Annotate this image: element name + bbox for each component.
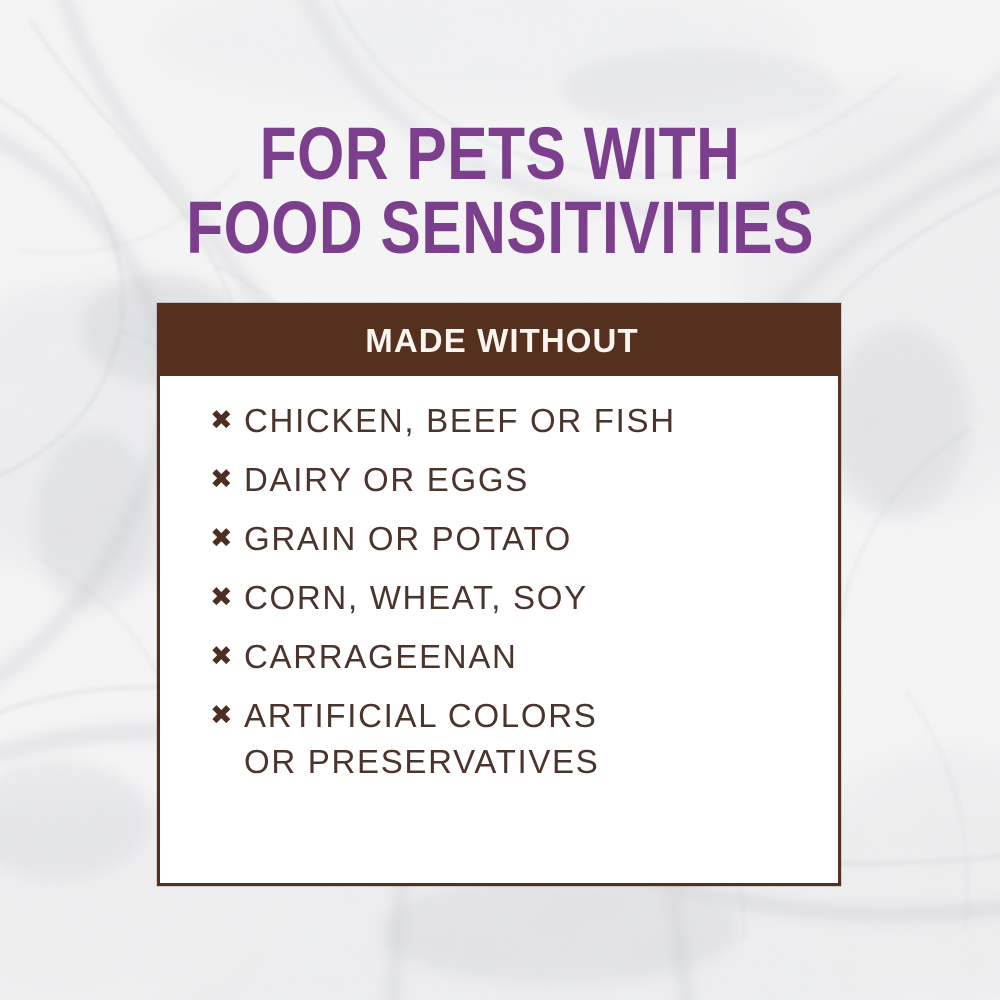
- page-title-line-2: FOOD SENSITIVITIES: [90, 192, 910, 264]
- list-item-label: GRAIN OR POTATO: [244, 516, 572, 562]
- x-mark-icon: ✖: [210, 693, 244, 739]
- list-item-label: DAIRY OR EGGS: [244, 457, 529, 503]
- x-mark-icon: ✖: [210, 457, 244, 503]
- page-title: FOR PETS WITH FOOD SENSITIVITIES: [0, 118, 1000, 264]
- made-without-card: MADE WITHOUT ✖ CHICKEN, BEEF OR FISH ✖ D…: [157, 303, 841, 886]
- list-item: ✖ CORN, WHEAT, SOY: [160, 575, 838, 621]
- page-title-line-1: FOR PETS WITH: [90, 118, 910, 190]
- list-item: ✖ GRAIN OR POTATO: [160, 516, 838, 562]
- list-item: ✖ CARRAGEENAN: [160, 634, 838, 680]
- list-item: ✖ DAIRY OR EGGS: [160, 457, 838, 503]
- made-without-list: ✖ CHICKEN, BEEF OR FISH ✖ DAIRY OR EGGS …: [160, 376, 838, 785]
- list-item-label: ARTIFICIAL COLORS OR PRESERVATIVES: [244, 693, 599, 785]
- poster-stage: FOR PETS WITH FOOD SENSITIVITIES MADE WI…: [0, 0, 1000, 1000]
- x-mark-icon: ✖: [210, 398, 244, 444]
- list-item: ✖ CHICKEN, BEEF OR FISH: [160, 398, 838, 444]
- x-mark-icon: ✖: [210, 575, 244, 621]
- list-item-label: CORN, WHEAT, SOY: [244, 575, 588, 621]
- card-header: MADE WITHOUT: [160, 306, 838, 376]
- card-header-title: MADE WITHOUT: [365, 322, 639, 360]
- list-item: ✖ ARTIFICIAL COLORS OR PRESERVATIVES: [160, 693, 838, 785]
- list-item-label: CARRAGEENAN: [244, 634, 518, 680]
- x-mark-icon: ✖: [210, 634, 244, 680]
- list-item-label: CHICKEN, BEEF OR FISH: [244, 398, 676, 444]
- x-mark-icon: ✖: [210, 516, 244, 562]
